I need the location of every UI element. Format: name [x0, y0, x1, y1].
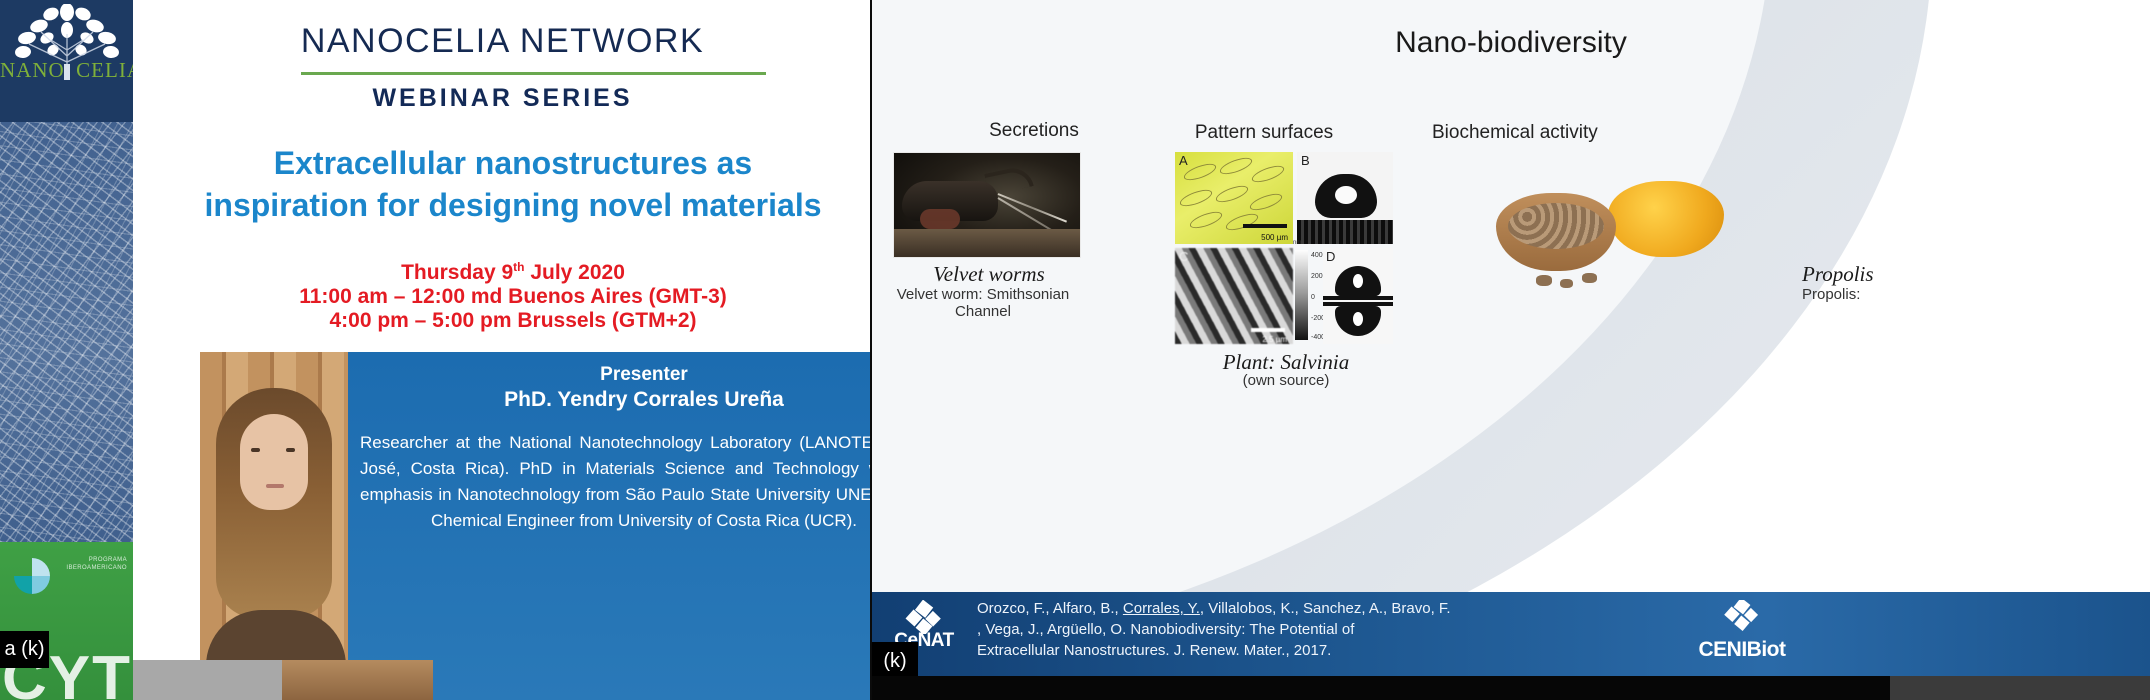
source-plant-salvinia: (own source) — [1126, 372, 1446, 389]
presenter-name: PhD. Yendry Corrales Ureña — [348, 388, 872, 412]
caption-propolis: Propolis — [1802, 262, 2142, 287]
cyted-program-line1: PROGRAMA — [66, 556, 127, 564]
colorbar-unit-label: nm — [1293, 240, 1301, 246]
salvinia-panel-grid: A 500 µm B C 2.5 µm n — [1175, 152, 1393, 344]
panel-a-label: A — [1179, 153, 1188, 168]
cyted-petal-icon — [14, 558, 50, 594]
presenter-text: Presenter PhD. Yendry Corrales Ureña Res… — [348, 352, 872, 700]
propolis-photo — [1482, 165, 1722, 295]
logo-word-celia: CELIA — [76, 58, 133, 82]
citation-text: Orozco, F., Alfaro, B., Corrales, Y., Vi… — [977, 598, 1617, 661]
title-rule-divider — [301, 72, 766, 75]
cenibiot-wordmark: CENIBiot — [1662, 638, 1822, 662]
logo-word-nano: NANO — [0, 58, 65, 82]
panel-c-afm-map: C 2.5 µm — [1175, 248, 1293, 344]
panel-d-contact-angle: D — [1323, 248, 1393, 344]
source-velvet-worms: Velvet worm: Smithsonian Channel — [872, 286, 1094, 320]
panel-d-label: D — [1326, 249, 1335, 264]
height-colorbar — [1295, 250, 1308, 340]
cyted-program-text: PROGRAMA IBEROAMERICANO — [66, 556, 127, 572]
panel-b-contact-angle: B — [1297, 152, 1393, 244]
source-propolis: Propolis: — [1802, 286, 2142, 303]
flyer-content: NANOCELIA NETWORK WEBINAR SERIES Extrace… — [133, 0, 872, 700]
citation-band: CeNAT Orozco, F., Alfaro, B., Corrales, … — [872, 592, 2150, 676]
colorbar-tick-200: 200 — [1311, 273, 1323, 280]
slide-title: Nano-biodiversity — [872, 26, 2150, 60]
citation-author-highlighted: Corrales, Y. — [1123, 600, 1200, 617]
panel-a-scalebar — [1243, 224, 1287, 228]
event-date-ordinal: th — [513, 260, 524, 274]
flyer-datetime: Thursday 9th July 2020 11:00 am – 12:00 … — [133, 255, 872, 333]
velvet-worm-photo — [893, 152, 1081, 258]
presenter-bio: Researcher at the National Nanotechnolog… — [360, 430, 872, 534]
cenat-mark-icon — [882, 600, 966, 634]
slide-bottom-grey-strip — [1890, 676, 2150, 700]
panel-c-label: C — [1179, 249, 1188, 264]
nanofiber-mesh-texture — [0, 122, 133, 542]
citation-line-3: Extracellular Nanostructures. J. Renew. … — [977, 640, 1617, 661]
flyer-subtitle: WEBINAR SERIES — [133, 84, 872, 113]
webinar-flyer-pane: NANO_CELIA PROGRAMA IBEROAMERICANO CYTED… — [0, 0, 872, 700]
cyted-program-line2: IBEROAMERICANO — [66, 564, 127, 572]
presenter-band: Presenter PhD. Yendry Corrales Ureña Res… — [200, 352, 872, 700]
cenibiot-logo: CENIBiot — [1662, 600, 1822, 645]
bottom-photo-strip — [282, 660, 433, 700]
column-head-biochemical-activity: Biochemical activity — [1432, 122, 1852, 144]
event-date-prefix: Thursday 9 — [401, 261, 513, 284]
flyer-headline: Extracellular nanostructures as inspirat… — [133, 142, 872, 226]
nanocelia-logo-strip: NANO_CELIA PROGRAMA IBEROAMERICANO CYTED — [0, 0, 133, 700]
cyted-logo-block: PROGRAMA IBEROAMERICANO CYTED — [0, 542, 133, 700]
caption-chip-left: a (k) — [0, 631, 49, 668]
event-time-buenos-aires: 11:00 am – 12:00 md Buenos Aires (GMT-3) — [133, 285, 872, 309]
presenter-photo — [200, 352, 348, 700]
screen: NANO_CELIA PROGRAMA IBEROAMERICANO CYTED… — [0, 0, 2150, 700]
flyer-title: NANOCELIA NETWORK — [133, 22, 872, 61]
caption-velvet-worms: Velvet worms — [884, 262, 1094, 287]
event-time-brussels: 4:00 pm – 5:00 pm Brussels (GTM+2) — [133, 309, 872, 333]
event-date: Thursday 9th July 2020 — [133, 255, 872, 285]
column-head-pattern-surfaces: Pattern surfaces — [1104, 122, 1424, 144]
panel-c-scalebar — [1251, 328, 1285, 332]
nanocelia-wordmark: NANO_CELIA — [0, 58, 133, 83]
citation-line-2: , Vega, J., Argüello, O. Nanobiodiversit… — [977, 619, 1617, 640]
panel-a-scalebar-label: 500 µm — [1261, 233, 1288, 242]
caption-chip-right: (k) — [872, 642, 918, 680]
cenibiot-mark-icon — [1662, 600, 1822, 640]
event-date-suffix: July 2020 — [524, 261, 624, 284]
citation-authors-a: Orozco, F., Alfaro, B., — [977, 600, 1123, 617]
citation-authors-b: , Villalobos, K., Sanchez, A., Bravo, F. — [1200, 600, 1451, 617]
panel-c-scalebar-label: 2.5 µm — [1262, 335, 1287, 344]
citation-line-1: Orozco, F., Alfaro, B., Corrales, Y., Vi… — [977, 598, 1617, 619]
colorbar-tick-0: 0 — [1311, 294, 1315, 301]
headline-line-2: inspiration for designing novel material… — [133, 184, 872, 226]
panel-a-micrograph: A 500 µm — [1175, 152, 1293, 244]
presenter-role-label: Presenter — [348, 364, 872, 386]
nanobiodiversity-slide-pane: Nano-biodiversity Secretions Velvet worm… — [872, 0, 2150, 700]
panel-b-label: B — [1301, 153, 1310, 168]
headline-line-1: Extracellular nanostructures as — [133, 142, 872, 184]
colorbar-tick-400: 400 — [1311, 252, 1323, 259]
